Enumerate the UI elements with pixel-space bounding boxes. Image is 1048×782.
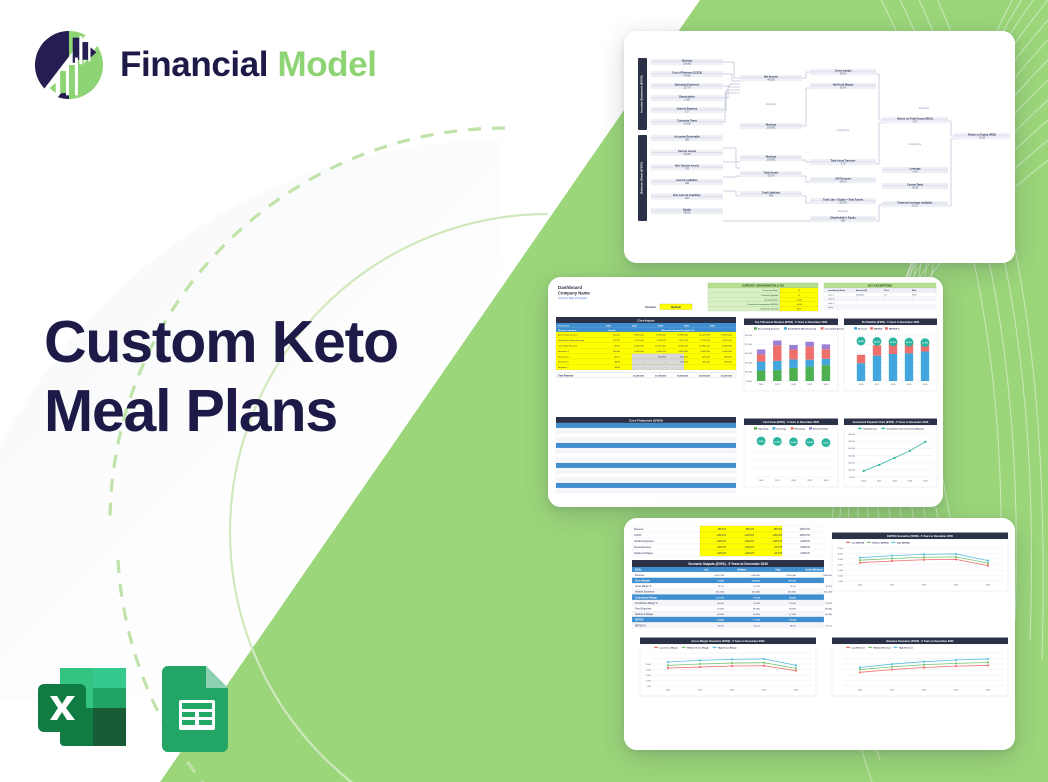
svg-text:$20,000: $20,000	[745, 353, 752, 355]
svg-text:Fiscal Year: Fiscal Year	[558, 326, 570, 328]
svg-text:Operating: Operating	[758, 428, 769, 431]
svg-text:Revenue: Revenue	[635, 575, 645, 577]
svg-text:divided by: divided by	[919, 108, 930, 110]
svg-text:$10,000: $10,000	[849, 470, 856, 472]
svg-text:(7,050): (7,050)	[717, 609, 724, 611]
svg-text:76,750: 76,750	[753, 597, 760, 599]
svg-text:Contribution Margin %: Contribution Margin %	[635, 602, 658, 605]
svg-text:70.7%: 70.7%	[718, 586, 724, 588]
svg-text:(7,100): (7,100)	[789, 614, 796, 616]
svg-text:37.3%: 37.3%	[922, 343, 928, 345]
scenario-outputs-card[interactable]: Revenue385,070385,070385,0701095.97%COGS…	[624, 518, 1015, 750]
svg-text:Medium Gross Margin: Medium Gross Margin	[687, 646, 710, 649]
svg-text:$60,000: $60,000	[849, 434, 856, 436]
circular-chart-logo-icon	[32, 28, 106, 102]
svg-text:+1095.0%: +1095.0%	[800, 553, 810, 555]
svg-text:$4.20: $4.20	[615, 346, 621, 348]
svg-text:(6,000): (6,000)	[753, 614, 760, 616]
svg-text:2027: 2027	[775, 384, 781, 386]
svg-text:10,240: 10,240	[774, 440, 781, 443]
file-format-icons	[30, 660, 236, 754]
svg-text:Operating Expenses: Operating Expenses	[675, 82, 700, 86]
svg-text:Current Ratio: Current Ratio	[907, 182, 924, 186]
svg-text:(9,000): (9,000)	[789, 609, 796, 611]
svg-text:Revenue: Revenue	[858, 329, 868, 331]
svg-text:+205,070: +205,070	[744, 535, 754, 537]
svg-text:4,009,100: 4,009,100	[656, 351, 667, 353]
brand-logo[interactable]: Financial Model	[32, 28, 377, 102]
svg-text:A/R Turnover: A/R Turnover	[835, 176, 851, 180]
svg-text:78,760: 78,760	[825, 603, 832, 605]
svg-text:+105,070: +105,070	[744, 541, 754, 543]
svg-text:Balance Sheet ($'000): Balance Sheet ($'000)	[640, 162, 644, 194]
svg-text:Consulting Services: Consulting Services	[825, 328, 847, 331]
svg-text:Fixed Expenses: Fixed Expenses	[634, 546, 652, 549]
svg-text:37,000,000: 37,000,000	[655, 375, 667, 377]
svg-text:385,070: 385,070	[718, 529, 727, 531]
headline-line-1: Custom Keto	[44, 308, 398, 377]
svg-text:Net Cash Flow: Net Cash Flow	[813, 428, 828, 431]
svg-text:61.03: 61.03	[979, 137, 985, 139]
svg-text:High EBITDA: High EBITDA	[897, 541, 910, 544]
svg-text:7,150,220: 7,150,220	[678, 340, 689, 342]
svg-text:2030: 2030	[823, 384, 829, 386]
svg-text:2030: 2030	[923, 384, 929, 386]
svg-text:+00,075: +00,075	[774, 547, 783, 549]
headline-line-2: Meal Plans	[44, 377, 398, 446]
svg-text:Investing: Investing	[776, 428, 786, 431]
svg-text:46,628: 46,628	[767, 79, 775, 81]
svg-text:Denomination: Denomination	[765, 298, 779, 301]
svg-text:7,370,000: 7,370,000	[634, 340, 645, 342]
svg-text:1.9%: 1.9%	[912, 171, 917, 173]
svg-text:Cumulative Cash Investment (Eq: Cumulative Cash Investment (Equity)	[887, 427, 924, 430]
svg-text:+00,075: +00,075	[774, 553, 783, 555]
svg-text:Financing: Financing	[795, 429, 806, 431]
brand-wordmark: Financial Model	[120, 45, 377, 85]
svg-text:30%: 30%	[797, 309, 801, 311]
svg-text:+205,070: +205,070	[716, 535, 726, 537]
svg-text:145.24: 145.24	[839, 181, 847, 183]
svg-text:KEY ASSUMPTIONS: KEY ASSUMPTIONS	[868, 285, 892, 288]
svg-text:Gross margin: Gross margin	[835, 68, 852, 72]
svg-text:15,000: 15,000	[646, 675, 652, 677]
svg-text:Scenario Outputs ($'000) - 5 Y: Scenario Outputs ($'000) - 5 Years to De…	[688, 562, 768, 566]
svg-text:(6,840): (6,840)	[717, 614, 724, 616]
dashboard-spreadsheet: DashboardCompany NameGo to the Table of …	[548, 277, 943, 507]
svg-text:2.70: 2.70	[841, 163, 846, 165]
svg-text:Low EBITDA: Low EBITDA	[852, 541, 865, 544]
svg-text:146,100: 146,100	[680, 362, 689, 364]
svg-text:Grant: Grant	[828, 306, 834, 309]
svg-text:High Gross Margin: High Gross Margin	[718, 646, 737, 649]
svg-text:9,160,480: 9,160,480	[786, 575, 797, 577]
brand-word-model: Model	[277, 45, 376, 84]
svg-text:2026: 2026	[759, 480, 765, 482]
svg-text:Variable Expenses: Variable Expenses	[634, 540, 655, 543]
svg-text:Revenue 7: Revenue 7	[558, 367, 569, 369]
svg-text:Revenue 5: Revenue 5	[558, 356, 569, 358]
svg-text:$10,000: $10,000	[745, 372, 752, 374]
svg-text:$5,000: $5,000	[746, 381, 752, 383]
svg-text:30,000: 30,000	[838, 553, 844, 555]
svg-text:Total Asset Turnover: Total Asset Turnover	[830, 158, 855, 162]
svg-text:EBITDA Scenarios ($'000) - 5 Y: EBITDA Scenarios ($'000) - 5 Years to De…	[887, 534, 953, 538]
svg-text:+1095.0%: +1095.0%	[800, 541, 810, 543]
svg-text:Interest Expense: Interest Expense	[677, 106, 698, 110]
svg-text:Small Batch Manufacturing: Small Batch Manufacturing	[788, 328, 817, 331]
svg-text:62.1%: 62.1%	[754, 625, 760, 627]
svg-text:Loan 1: Loan 1	[828, 294, 835, 296]
svg-text:Revenue 6: Revenue 6	[558, 362, 569, 364]
svg-text:Core Financials ($'000): Core Financials ($'000)	[629, 418, 663, 422]
svg-text:12,951,000: 12,951,000	[655, 346, 667, 348]
svg-text:500,000: 500,000	[856, 294, 864, 296]
svg-text:Corporate Tax (%): Corporate Tax (%)	[760, 308, 778, 311]
svg-text:12,714: 12,714	[683, 87, 691, 89]
svg-text:58.98: 58.98	[912, 187, 918, 189]
svg-text:Gross Margin: Gross Margin	[635, 581, 650, 583]
svg-text:Medium Revenue: Medium Revenue	[874, 647, 892, 649]
svg-text:Equity: Equity	[683, 207, 691, 211]
svg-text:Revenue: Revenue	[766, 122, 777, 126]
svg-text:Total Liab + Equity = Total As: Total Liab + Equity = Total Assets	[823, 197, 864, 201]
svg-text:Current Liabilities: Current Liabilities	[676, 178, 698, 182]
dupont-analysis-diagram: Income Statement ($'000)Balance Sheet ($…	[624, 31, 1015, 263]
svg-text:2026: 2026	[859, 384, 865, 386]
svg-text:88,100: 88,100	[717, 603, 724, 605]
svg-text:Medium: Medium	[738, 570, 747, 572]
svg-text:80,620: 80,620	[789, 597, 796, 599]
svg-text:1,000: 1,000	[796, 299, 802, 301]
svg-text:$4.77: $4.77	[615, 356, 621, 358]
svg-text:Term: Term	[884, 289, 889, 292]
svg-text:$1,000: $1,000	[850, 477, 856, 479]
svg-text:Return on Equity (ROE): Return on Equity (ROE)	[968, 132, 997, 136]
svg-text:25,000: 25,000	[646, 664, 652, 666]
svg-text:136,800: 136,800	[683, 63, 692, 65]
svg-text:Medium: Medium	[671, 305, 681, 309]
svg-text:$4.85: $4.85	[615, 367, 621, 369]
svg-text:$30,000: $30,000	[745, 335, 752, 337]
svg-text:87,560: 87,560	[789, 603, 796, 605]
svg-text:Gross Margin Scenarios ($'000): Gross Margin Scenarios ($'000) - 5 Years…	[692, 639, 765, 643]
svg-text:2026: 2026	[759, 384, 765, 386]
svg-text:Go to the Table of Contents: Go to the Table of Contents	[558, 297, 588, 300]
svg-text:20,000: 20,000	[838, 564, 844, 566]
svg-text:(8,080): (8,080)	[825, 609, 832, 611]
svg-text:Total Revenue: Total Revenue	[558, 374, 574, 377]
svg-text:High: High	[775, 570, 781, 572]
svg-text:2030: 2030	[823, 480, 829, 482]
svg-text:46.4%: 46.4%	[858, 340, 864, 343]
svg-text:Low: Low	[704, 570, 709, 572]
svg-text:(63,340): (63,340)	[788, 592, 796, 594]
svg-text:Accounting Services: Accounting Services	[758, 328, 780, 331]
svg-text:$4.85: $4.85	[615, 362, 621, 364]
microsoft-excel-icon[interactable]	[30, 660, 134, 754]
left-content: Financial Model Custom Keto Meal Plans	[0, 0, 470, 782]
svg-text:70,850: 70,850	[717, 581, 724, 583]
svg-text:Non-Current Assets: Non-Current Assets	[675, 164, 700, 168]
svg-text:Total Liabilities: Total Liabilities	[762, 190, 781, 194]
page-title: Custom Keto Meal Plans	[44, 308, 398, 446]
svg-text:$000s: $000s	[635, 570, 642, 572]
svg-text:Net Profit Margin: Net Profit Margin	[833, 82, 854, 86]
svg-text:12,004,050: 12,004,050	[699, 335, 711, 337]
svg-text:Cost of Revenue (COGS): Cost of Revenue (COGS)	[672, 70, 702, 74]
svg-text:49,628: 49,628	[683, 212, 691, 214]
svg-text:$15,000: $15,000	[745, 362, 752, 364]
svg-text:CURRENCY DENOMINATION & TAX: CURRENCY DENOMINATION & TAX	[742, 285, 785, 288]
svg-text:Core Inputs: Core Inputs	[637, 318, 654, 322]
svg-text:Revenue: Revenue	[634, 528, 644, 531]
svg-text:(61,000): (61,000)	[752, 592, 760, 594]
svg-text:$20,000: $20,000	[849, 462, 856, 464]
svg-text:2028: 2028	[658, 326, 664, 328]
scenario-outputs-spreadsheet: Revenue385,070385,070385,0701095.97%COGS…	[624, 518, 1015, 750]
svg-text:10,960,720: 10,960,720	[699, 346, 711, 348]
svg-text:136,800: 136,800	[767, 127, 776, 129]
svg-text:Dashboard: Dashboard	[558, 285, 582, 290]
svg-text:4055.07%: 4055.07%	[800, 535, 810, 537]
svg-text:950,005: 950,005	[724, 356, 733, 358]
svg-text:13,204,000: 13,204,000	[721, 335, 733, 337]
svg-text:+108,075: +108,075	[744, 553, 754, 555]
svg-text:EBITDA: EBITDA	[874, 328, 883, 331]
svg-text:$4.100: $4.100	[613, 351, 620, 353]
svg-text:2029: 2029	[907, 384, 913, 386]
svg-text:$50,000: $50,000	[849, 441, 856, 443]
svg-text:1095.97%: 1095.97%	[800, 529, 810, 531]
svg-text:41.2%: 41.2%	[874, 340, 880, 343]
svg-text:Accounting Services: Accounting Services	[558, 334, 579, 337]
svg-text:Scenario: Scenario	[645, 305, 656, 309]
svg-text:(6,000): (6,000)	[825, 614, 832, 616]
svg-text:Accounts Receivable: Accounts Receivable	[674, 134, 700, 138]
svg-text:73.4%: 73.4%	[790, 586, 796, 588]
svg-text:350,300: 350,300	[658, 356, 667, 358]
svg-text:177,770: 177,770	[716, 597, 725, 599]
svg-text:5,790,250: 5,790,250	[700, 340, 711, 342]
svg-text:50,576: 50,576	[839, 202, 847, 204]
svg-text:62.1%: 62.1%	[826, 625, 832, 627]
svg-text:Cash Flow ($'000) - 5 Years to: Cash Flow ($'000) - 5 Years to December …	[763, 420, 820, 424]
brand-word-financial: Financial	[120, 45, 268, 84]
svg-text:(55,130): (55,130)	[716, 592, 724, 594]
svg-text:97,330: 97,330	[789, 620, 796, 622]
svg-text:2027: 2027	[875, 384, 881, 386]
svg-text:20,000: 20,000	[646, 669, 652, 671]
svg-text:Low Revenue: Low Revenue	[852, 647, 866, 649]
svg-text:COGS: COGS	[634, 534, 641, 537]
svg-text:High Revenue: High Revenue	[899, 647, 914, 649]
svg-text:Revenue Scenarios ($'000) - 5: Revenue Scenarios ($'000) - 5 Years to D…	[886, 639, 954, 643]
svg-text:Loan 2: Loan 2	[828, 299, 835, 301]
svg-text:Loan 3: Loan 3	[828, 303, 835, 305]
svg-text:2029: 2029	[807, 384, 813, 386]
svg-text:136,800: 136,800	[767, 159, 776, 161]
svg-text:Loan/Grant Name: Loan/Grant Name	[828, 289, 846, 292]
svg-text:10,896,500: 10,896,500	[677, 335, 689, 337]
svg-text:Currency Name: Currency Name	[763, 289, 779, 292]
svg-text:Active (Medium): Active (Medium)	[805, 569, 823, 572]
svg-text:50,006: 50,006	[683, 154, 691, 156]
svg-text:Contribution Margin: Contribution Margin	[635, 596, 658, 599]
svg-text:Currency Denomination ($'000): Currency Denomination ($'000)	[748, 303, 779, 306]
svg-text:+205,070: +205,070	[772, 535, 782, 537]
svg-text:26,000,000: 26,000,000	[633, 375, 645, 377]
svg-text:Current Assets: Current Assets	[678, 149, 697, 153]
svg-text:Currency Symbol: Currency Symbol	[761, 294, 778, 297]
svg-text:+105,074: +105,074	[772, 541, 782, 543]
svg-text:67.3%: 67.3%	[754, 586, 760, 588]
svg-text:$12.70: $12.70	[613, 340, 620, 342]
svg-text:42.9%: 42.9%	[906, 341, 912, 344]
dupont-analysis-card[interactable]: Income Statement ($'000)Balance Sheet ($…	[624, 31, 1015, 263]
svg-text:5,052,130: 5,052,130	[714, 575, 725, 577]
svg-text:4,009,180: 4,009,180	[700, 351, 711, 353]
svg-text:Consulting Telecom: Consulting Telecom	[558, 345, 577, 348]
svg-text:2030: 2030	[710, 326, 716, 328]
svg-text:Amount ($): Amount ($)	[856, 289, 867, 292]
svg-text:35.7%: 35.7%	[840, 87, 847, 89]
svg-text:77,100: 77,100	[753, 620, 760, 622]
svg-text:8,050,850: 8,050,850	[722, 346, 733, 348]
svg-text:Gross Margin %: Gross Margin %	[635, 585, 651, 588]
svg-text:920,020: 920,020	[702, 356, 711, 358]
svg-text:78,760: 78,760	[753, 603, 760, 605]
svg-text:2028: 2028	[791, 384, 797, 386]
svg-text:10,000: 10,000	[646, 680, 652, 682]
svg-text:Small Batch Manufacturing: Small Batch Manufacturing	[558, 339, 585, 342]
svg-text:65.0%: 65.0%	[840, 73, 847, 75]
svg-text:9,080,000: 9,080,000	[656, 335, 667, 337]
svg-text:76,750: 76,750	[825, 597, 832, 599]
svg-text:Shareholder's Equity: Shareholder's Equity	[830, 215, 856, 219]
svg-text:Salaries & Wages: Salaries & Wages	[634, 552, 654, 555]
svg-text:39,400,000: 39,400,000	[677, 374, 689, 377]
svg-text:Total Assets: Total Assets	[764, 170, 779, 174]
svg-text:2027: 2027	[632, 326, 638, 328]
svg-text:Fixed Expenses: Fixed Expenses	[635, 609, 652, 611]
svg-text:divided by: divided by	[838, 211, 849, 213]
svg-text:Revenue: Revenue	[682, 58, 693, 62]
svg-text:Medium EBITDA: Medium EBITDA	[873, 541, 890, 544]
svg-text:60.3%: 60.3%	[718, 625, 724, 627]
svg-text:67.3%: 67.3%	[826, 586, 832, 588]
svg-text:Salaries & Wages: Salaries & Wages	[635, 613, 654, 616]
svg-text:Leverage: Leverage	[909, 166, 921, 170]
svg-text:2027: 2027	[775, 480, 781, 482]
svg-text:8,228,140: 8,228,140	[678, 346, 689, 348]
svg-text:68.0%: 68.0%	[790, 625, 796, 627]
svg-text:Return on Total Assets (ROA): Return on Total Assets (ROA)	[897, 116, 933, 120]
svg-text:2026: 2026	[606, 326, 612, 328]
svg-text:10,000: 10,000	[838, 575, 844, 577]
svg-text:5,000: 5,000	[839, 581, 844, 583]
svg-text:$25,000: $25,000	[745, 344, 752, 346]
svg-text:43.8%: 43.8%	[890, 341, 896, 344]
svg-text:$30,000: $30,000	[849, 455, 856, 457]
svg-text:9,210: 9,210	[823, 443, 829, 445]
svg-text:$64.30: $64.30	[613, 335, 620, 337]
svg-text:Investment Payback Chart ($'00: Investment Payback Chart ($'000) - 5 Yea…	[853, 420, 929, 424]
svg-text:Company Name: Company Name	[558, 291, 590, 296]
svg-text:0.97: 0.97	[913, 121, 918, 123]
svg-text:Depreciation: Depreciation	[679, 94, 695, 98]
svg-text:580,030: 580,030	[702, 362, 711, 364]
svg-text:+105,070: +105,070	[716, 547, 726, 549]
svg-text:40,500,000: 40,500,000	[699, 374, 711, 377]
svg-text:650,100: 650,100	[680, 356, 689, 358]
svg-text:6.0%: 6.0%	[912, 294, 917, 296]
svg-text:Top 5 Revenue Streams ($'000): Top 5 Revenue Streams ($'000) - 5 Years …	[755, 320, 828, 324]
svg-text:Revenue: Revenue	[766, 154, 777, 158]
svg-text:10,600: 10,600	[790, 442, 797, 444]
svg-text:x,000: x,000	[796, 304, 802, 306]
svg-text:2029: 2029	[684, 326, 690, 328]
svg-text:6,050,000: 6,050,000	[634, 346, 645, 348]
google-sheets-icon[interactable]	[158, 660, 236, 754]
svg-text:Growth: Growth	[608, 329, 616, 332]
svg-text:7,080,600: 7,080,600	[822, 575, 833, 577]
svg-text:(61,000): (61,000)	[824, 592, 832, 594]
svg-text:multiplied by: multiplied by	[909, 143, 923, 146]
svg-text:Financial Leverage multiplier: Financial Leverage multiplier	[897, 200, 932, 204]
svg-text:+105,074: +105,074	[744, 547, 754, 549]
dashboard-card[interactable]: DashboardCompany NameGo to the Table of …	[548, 277, 943, 507]
svg-text:5,000: 5,000	[647, 686, 652, 688]
svg-text:Profitability ($'000) - 5 Year: Profitability ($'000) - 5 Years to Decem…	[862, 320, 920, 324]
svg-text:$40,000: $40,000	[849, 448, 856, 450]
svg-text:divided by: divided by	[766, 104, 777, 106]
svg-text:Revenue 4: Revenue 4	[558, 351, 569, 353]
svg-text:+105,070: +105,070	[716, 541, 726, 543]
svg-text:Payback year: Payback year	[864, 427, 877, 430]
svg-text:Corporate Taxes: Corporate Taxes	[677, 118, 697, 122]
svg-text:Non-Current Liabilities: Non-Current Liabilities	[673, 193, 701, 197]
svg-text:EBITDA %: EBITDA %	[889, 328, 900, 331]
svg-text:8,850,000: 8,850,000	[634, 335, 645, 337]
svg-text:4,050,000: 4,050,000	[634, 351, 645, 353]
svg-text:Net Income: Net Income	[764, 74, 778, 78]
svg-text:EBITDA: EBITDA	[635, 619, 644, 622]
svg-text:20,636: 20,636	[683, 123, 691, 125]
svg-text:multiplied by: multiplied by	[837, 129, 851, 132]
svg-text:1,265: 1,265	[684, 99, 690, 101]
svg-text:Low Gross Margin: Low Gross Margin	[660, 646, 679, 649]
svg-text:Revenue Forecast for years 1-5: Revenue Forecast for years 1-5	[662, 329, 695, 332]
svg-text:Income Statement ($'000): Income Statement ($'000)	[640, 75, 644, 112]
svg-text:25,000: 25,000	[838, 559, 844, 561]
svg-text:10,200: 10,200	[807, 442, 814, 444]
svg-text:77,100: 77,100	[825, 620, 832, 622]
svg-text:8,000: 8,000	[759, 441, 765, 443]
svg-text:385,070: 385,070	[774, 529, 783, 531]
svg-text:63.22: 63.22	[912, 205, 918, 207]
svg-text:197,100: 197,100	[788, 581, 797, 583]
svg-text:35,000: 35,000	[838, 548, 844, 550]
svg-text:43,020,000: 43,020,000	[721, 374, 733, 377]
svg-text:+1095.0%: +1095.0%	[800, 547, 810, 549]
svg-text:2028: 2028	[791, 480, 797, 482]
svg-text:7,760,200: 7,760,200	[656, 340, 667, 342]
svg-text:2028: 2028	[891, 384, 897, 386]
svg-text:3,800,380: 3,800,380	[678, 351, 689, 353]
svg-text:4,000,000: 4,000,000	[722, 351, 733, 353]
svg-text:50,850: 50,850	[717, 620, 724, 622]
